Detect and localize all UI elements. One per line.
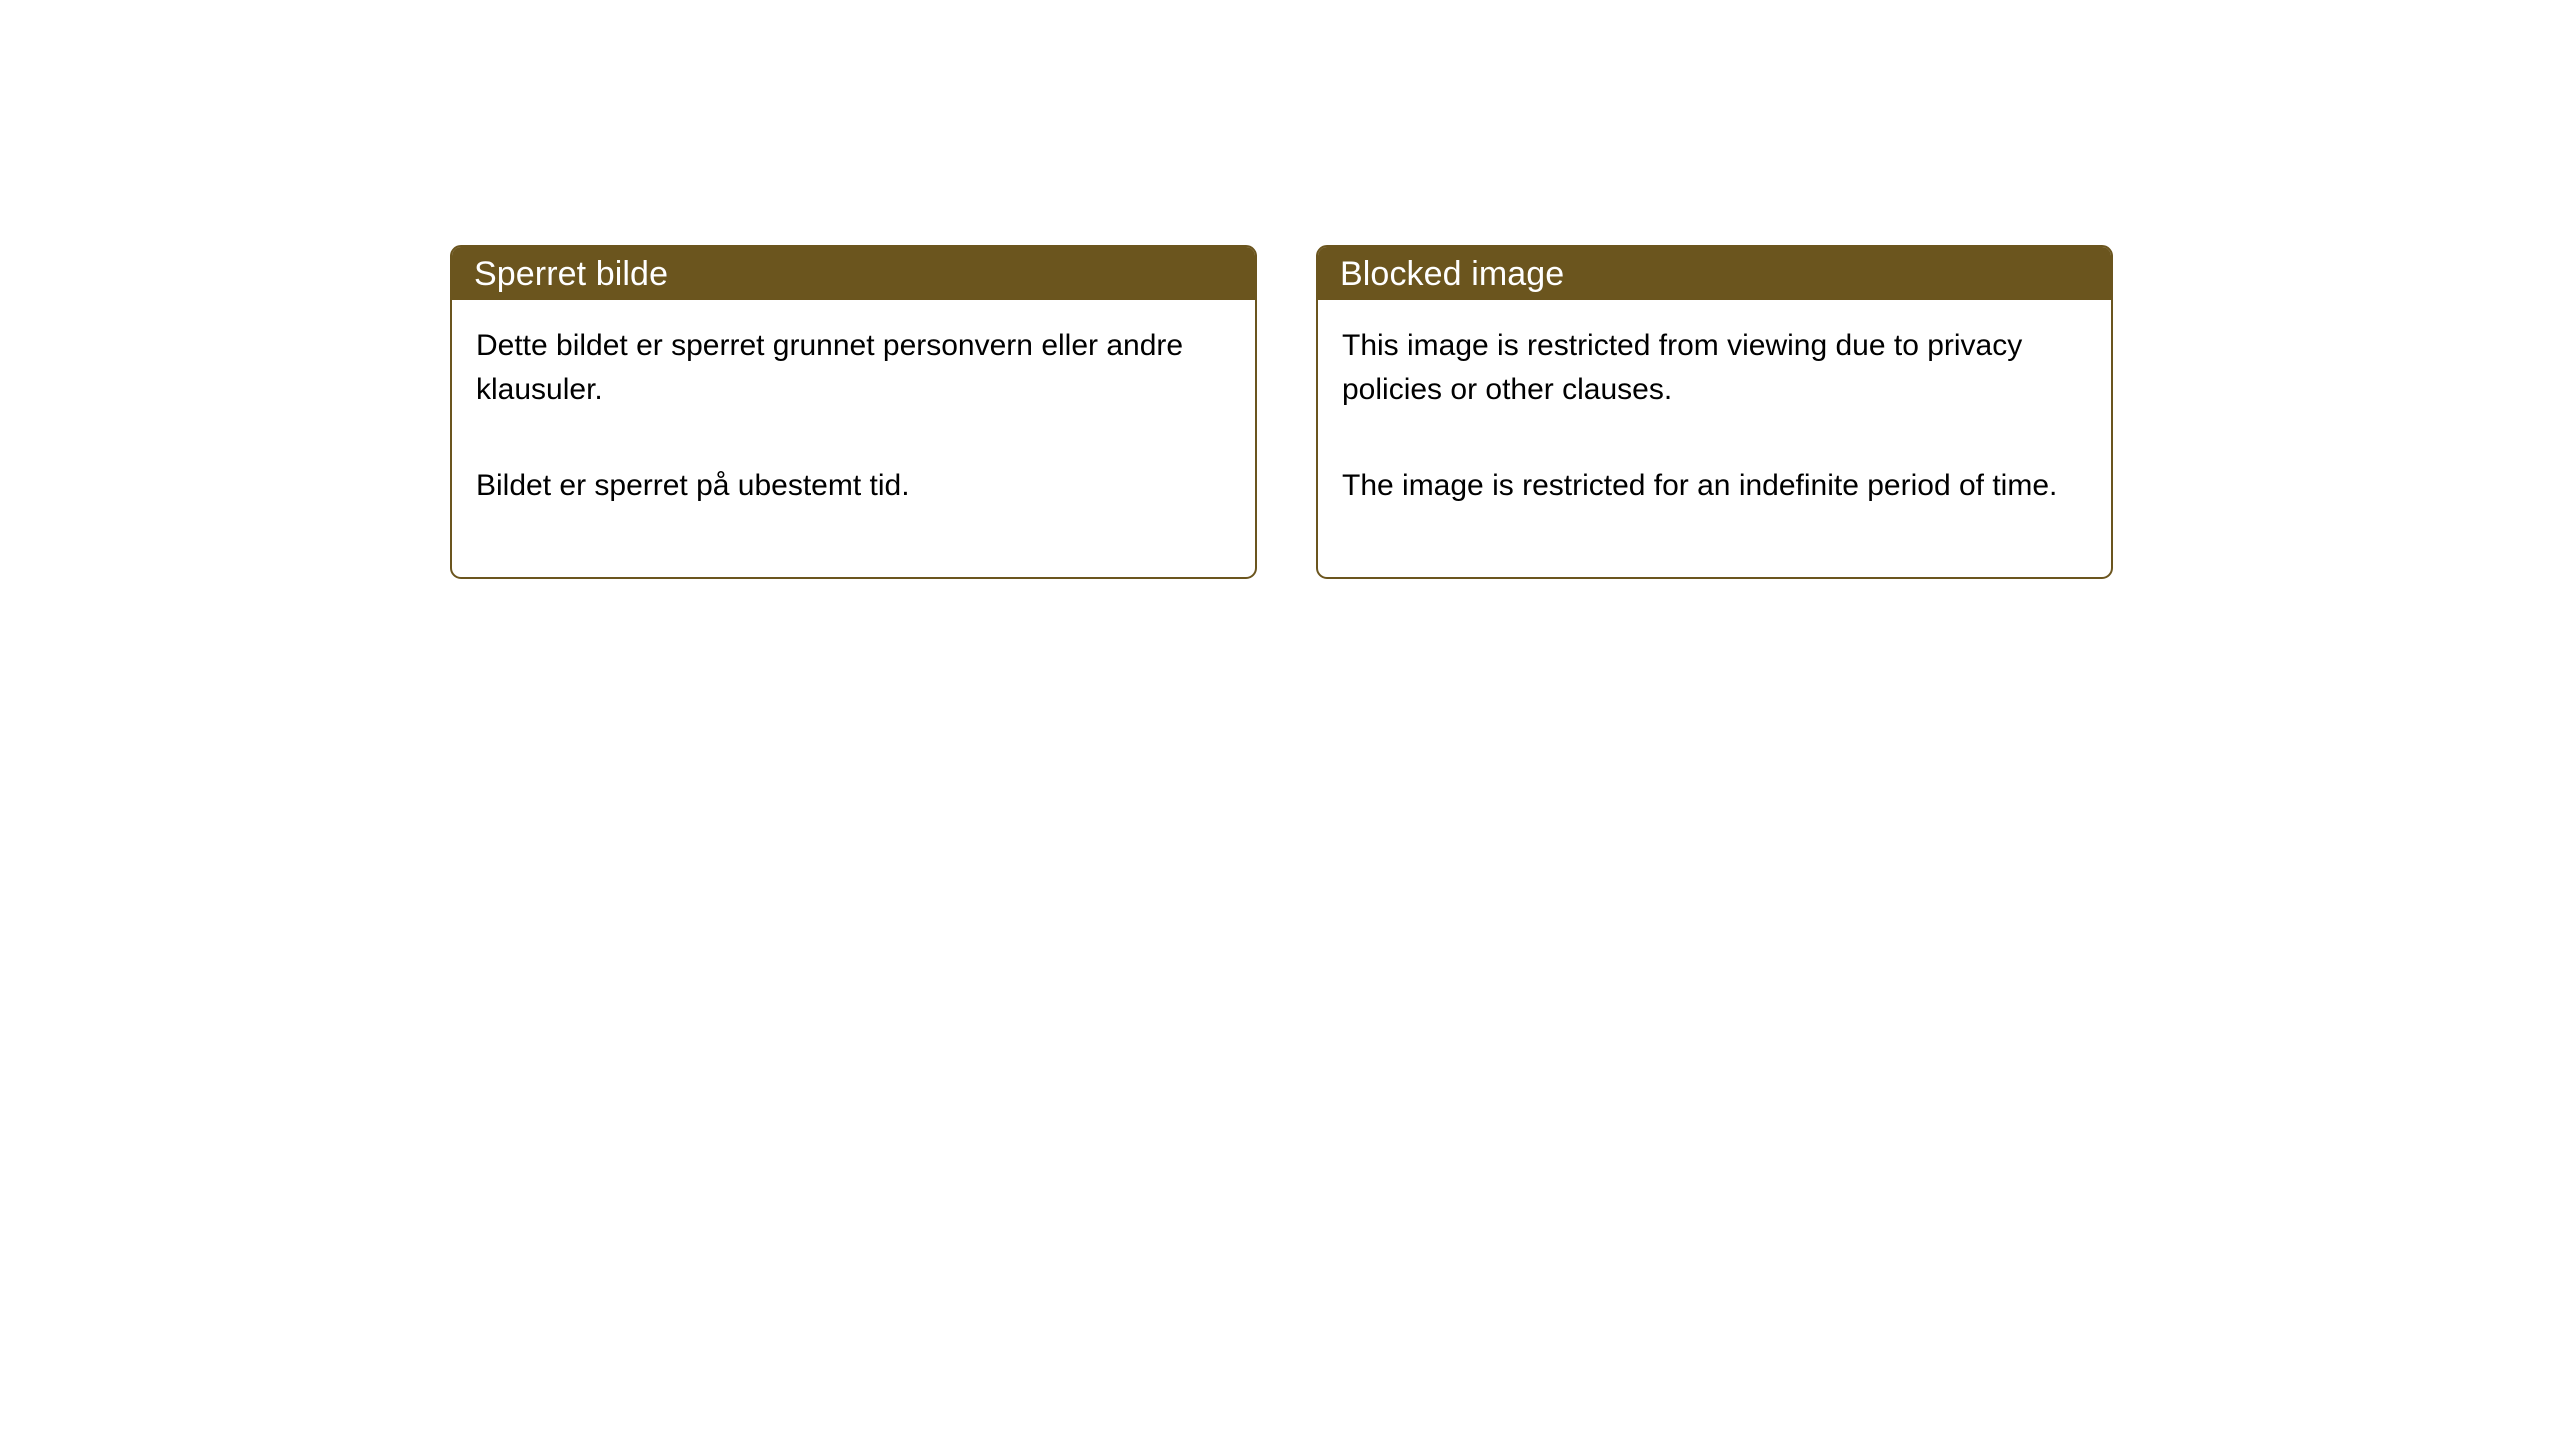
panel-body-norwegian: Dette bildet er sperret grunnet personve… (452, 300, 1255, 508)
notice-paragraph-duration-norwegian: Bildet er sperret på ubestemt tid. (476, 464, 1235, 508)
panel-header-english: Blocked image (1318, 247, 2111, 300)
page-canvas: Sperret bilde Dette bildet er sperret gr… (0, 0, 2560, 1440)
panel-body-english: This image is restricted from viewing du… (1318, 300, 2111, 508)
panel-header-norwegian: Sperret bilde (452, 247, 1255, 300)
panel-title-norwegian: Sperret bilde (474, 257, 668, 291)
notice-paragraph-duration-english: The image is restricted for an indefinit… (1342, 464, 2091, 508)
blocked-image-notice-english: Blocked image This image is restricted f… (1316, 245, 2113, 579)
notice-paragraph-reason-norwegian: Dette bildet er sperret grunnet personve… (476, 324, 1235, 412)
panel-title-english: Blocked image (1340, 257, 1564, 291)
notice-paragraph-reason-english: This image is restricted from viewing du… (1342, 324, 2091, 412)
blocked-image-notice-norwegian: Sperret bilde Dette bildet er sperret gr… (450, 245, 1257, 579)
